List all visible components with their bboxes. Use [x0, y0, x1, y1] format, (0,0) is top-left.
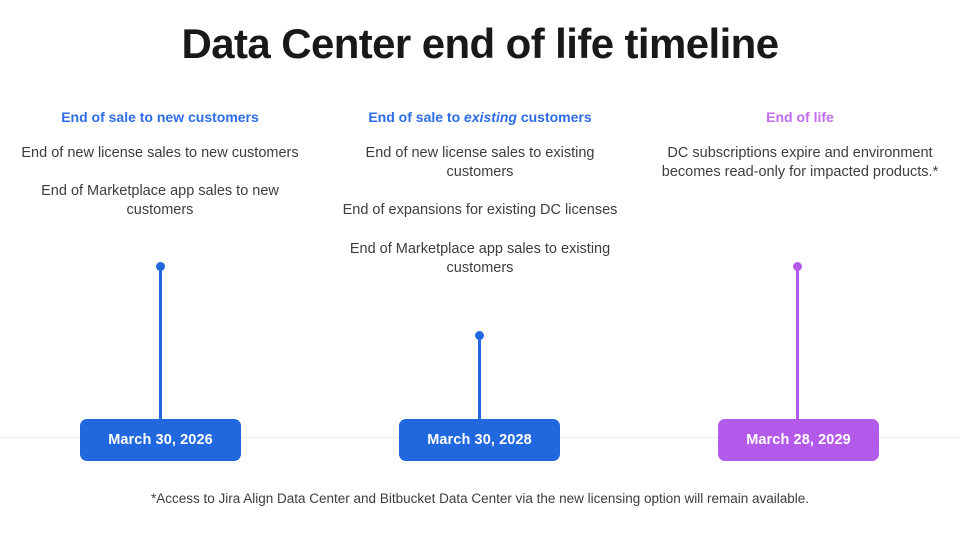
column-heading-3: End of life	[640, 108, 960, 128]
column-body-1: End of new license sales to new customer…	[0, 144, 320, 221]
column-heading-1-text: End of sale to new customers	[61, 109, 259, 125]
column-body-3: DC subscriptions expire and environment …	[640, 144, 960, 183]
date-badge-2[interactable]: March 30, 2028	[399, 419, 560, 461]
milestone-line-2	[478, 335, 481, 423]
column-1-paragraph: End of Marketplace app sales to new cust…	[20, 182, 300, 221]
column-heading-2: End of sale to existing customers	[320, 108, 640, 128]
date-badge-3[interactable]: March 28, 2029	[718, 419, 879, 461]
column-heading-2-text: End of sale to	[368, 109, 464, 125]
column-heading-2-suffix: customers	[517, 109, 592, 125]
timeline-column-end-of-life: End of life DC subscriptions expire and …	[640, 108, 960, 468]
column-2-paragraph: End of expansions for existing DC licens…	[340, 201, 620, 220]
column-2-paragraph: End of Marketplace app sales to existing…	[340, 240, 620, 279]
column-heading-3-text: End of life	[766, 109, 834, 125]
column-2-paragraph: End of new license sales to existing cus…	[340, 144, 620, 183]
date-badge-1[interactable]: March 30, 2026	[80, 419, 241, 461]
column-body-2: End of new license sales to existing cus…	[320, 144, 640, 278]
column-1-paragraph: End of new license sales to new customer…	[20, 144, 300, 163]
milestone-line-3	[796, 266, 799, 423]
column-3-paragraph: DC subscriptions expire and environment …	[660, 144, 940, 183]
footnote: *Access to Jira Align Data Center and Bi…	[0, 490, 960, 508]
page-title: Data Center end of life timeline	[0, 20, 960, 68]
milestone-line-1	[159, 266, 162, 423]
column-heading-1: End of sale to new customers	[0, 108, 320, 128]
timeline-slide: Data Center end of life timeline End of …	[0, 0, 960, 540]
column-heading-2-italic: existing	[464, 109, 517, 125]
